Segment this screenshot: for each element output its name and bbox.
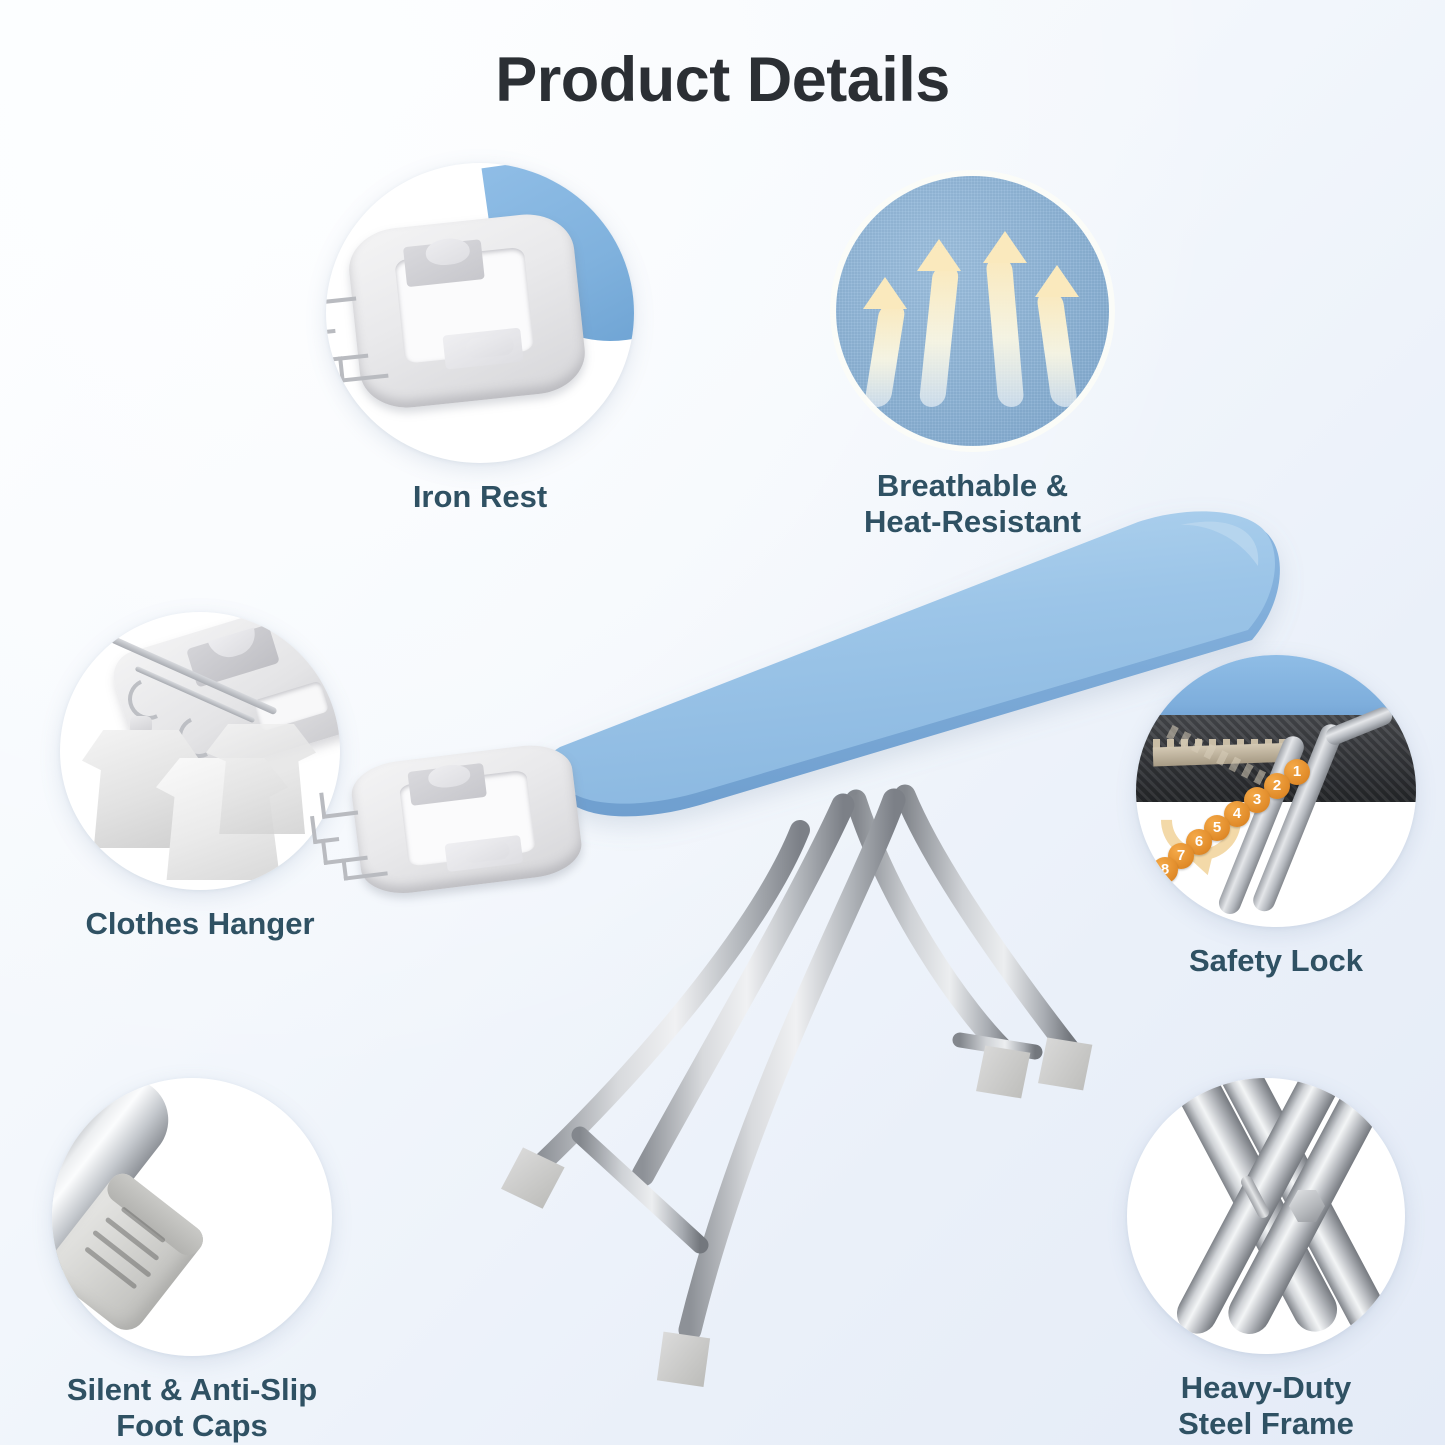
breathable-bubble (830, 170, 1115, 452)
feature-safety-lock: 1 2 3 4 5 6 7 8 Safety Lock (1126, 655, 1426, 979)
feature-label-foot-caps: Silent & Anti-Slip Foot Caps (42, 1372, 342, 1444)
clothes-hanger-icon (60, 612, 340, 890)
safety-lock-icon: 1 2 3 4 5 6 7 8 (1136, 655, 1416, 927)
lock-position-8: 8 (1152, 857, 1178, 883)
feature-label-clothes-hanger: Clothes Hanger (45, 906, 355, 942)
foot-cap-icon (52, 1078, 332, 1356)
feature-label-iron-rest: Iron Rest (300, 479, 660, 515)
feature-steel-frame: Heavy-Duty Steel Frame (1116, 1078, 1416, 1442)
crossed-steel-tubes-icon (1127, 1078, 1405, 1354)
clothes-hanger-bubble (60, 612, 340, 890)
feature-breathable-heat-resistant: Breathable & Heat-Resistant (825, 170, 1120, 540)
product-iron-rest-attachment (328, 733, 594, 912)
safety-lock-bubble: 1 2 3 4 5 6 7 8 (1136, 655, 1416, 927)
foot-cap-bubble (52, 1078, 332, 1356)
foot-caps (499, 1027, 1102, 1390)
airflow-arrows-icon (830, 170, 1115, 452)
feature-label-steel-frame: Heavy-Duty Steel Frame (1116, 1370, 1416, 1442)
feature-label-breathable: Breathable & Heat-Resistant (825, 468, 1120, 540)
feature-label-safety-lock: Safety Lock (1126, 943, 1426, 979)
feature-clothes-hanger: Clothes Hanger (45, 612, 355, 942)
feature-foot-caps: Silent & Anti-Slip Foot Caps (42, 1078, 342, 1444)
iron-rest-tray-icon (345, 210, 589, 413)
product-details-infographic: Product Details (0, 0, 1445, 1445)
steel-frame-bubble (1127, 1078, 1405, 1354)
iron-rest-bubble (326, 163, 634, 463)
feature-iron-rest: Iron Rest (300, 163, 660, 515)
